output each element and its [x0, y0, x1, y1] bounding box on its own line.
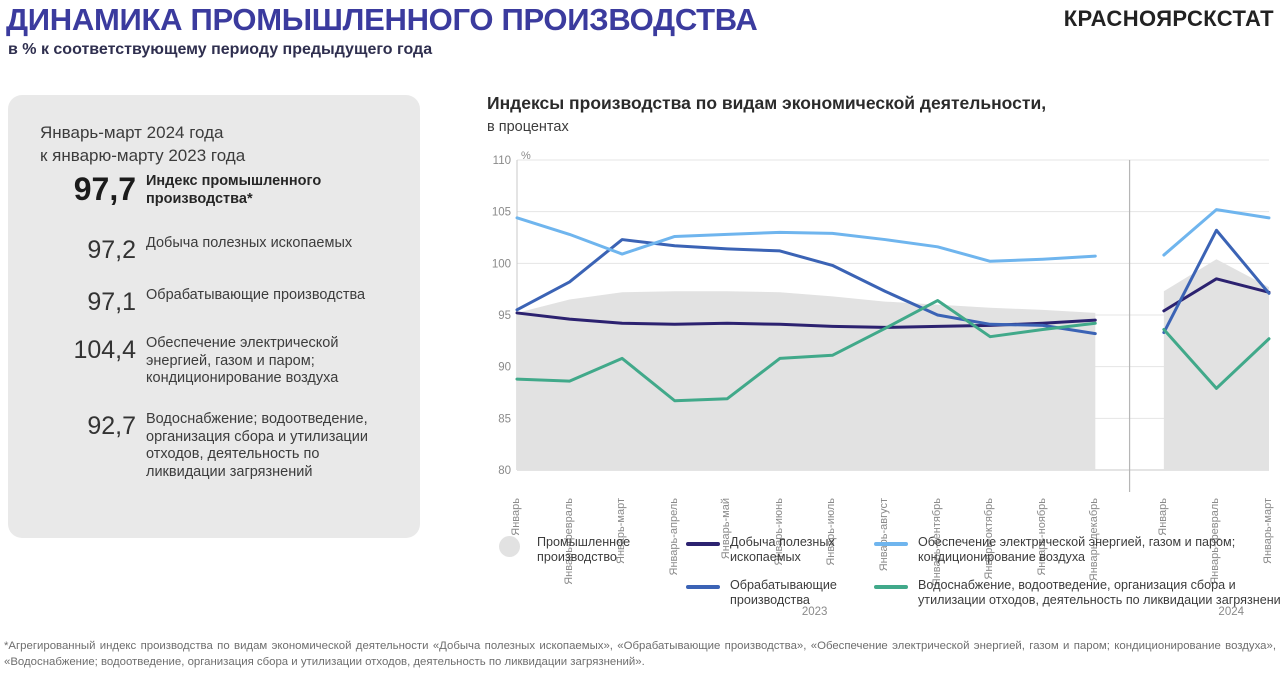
y-axis-tick-label: 105: [492, 207, 511, 219]
stat-value: 97,2: [8, 237, 136, 263]
line-chart-svg: 80859095100105110%: [487, 148, 1277, 498]
stat-label: Индекс промышленного производства*: [146, 173, 401, 208]
legend-dot-icon: [499, 536, 520, 557]
y-axis-tick-label: 90: [498, 362, 511, 374]
page-subtitle: в % к соответствующему периоду предыдуще…: [8, 41, 432, 59]
chart-legend: Промышленное производствоДобыча полезных…: [499, 533, 1277, 633]
panel-period-line: Январь-март 2024 года: [40, 122, 245, 145]
panel-period-label: Январь-март 2024 годак январю-марту 2023…: [40, 122, 245, 167]
page-header: ДИНАМИКА ПРОМЫШЛЕННОГО ПРОИЗВОДСТВА в % …: [0, 0, 1280, 70]
area-series-industrial-production: [517, 291, 1095, 470]
stat-label: Водоснабжение; водоотведение, организаци…: [146, 411, 401, 482]
stat-label: Обеспечение электрической энергией, газо…: [146, 335, 401, 388]
area-series-industrial-production-2024: [1164, 259, 1269, 470]
legend-label: Водоснабжение, водоотведение, организаци…: [918, 578, 1280, 609]
chart-block: Индексы производства по видам экономичес…: [487, 93, 1277, 633]
chart-subtitle: в процентах: [487, 119, 569, 135]
y-axis-tick-label: 110: [493, 155, 511, 167]
legend-line-icon: [686, 585, 720, 589]
stat-value: 97,1: [8, 289, 136, 315]
x-axis-tick-label: Январь: [1158, 498, 1169, 536]
y-axis-unit-label: %: [521, 150, 531, 162]
footnote: *Агрегированный индекс производства по в…: [4, 638, 1276, 670]
legend-line-icon: [874, 542, 908, 546]
y-axis-tick-label: 95: [498, 310, 511, 322]
legend-line-icon: [686, 542, 720, 546]
stat-value: 97,7: [8, 173, 136, 207]
panel-period-line: к январю-марту 2023 года: [40, 145, 245, 168]
y-axis-tick-label: 80: [498, 465, 511, 477]
chart-title: Индексы производства по видам экономичес…: [487, 93, 1046, 114]
stat-label: Добыча полезных ископаемых: [146, 235, 401, 253]
legend-label: Обеспечение электрической энергией, газо…: [918, 535, 1248, 566]
legend-label: Обрабатывающие производства: [730, 578, 880, 609]
legend-line-icon: [874, 585, 908, 589]
legend-label: Промышленное производство: [537, 535, 687, 566]
legend-label: Добыча полезных ископаемых: [730, 535, 880, 566]
x-axis-tick-label: Январь: [511, 498, 522, 536]
y-axis-tick-label: 85: [498, 413, 511, 425]
brand-logo: КРАСНОЯРСКСТАТ: [1064, 6, 1274, 32]
stat-value: 104,4: [8, 337, 136, 363]
page-title: ДИНАМИКА ПРОМЫШЛЕННОГО ПРОИЗВОДСТВА: [6, 2, 757, 38]
stat-label: Обрабатывающие производства: [146, 287, 401, 305]
summary-panel: Январь-март 2024 годак январю-марту 2023…: [8, 95, 420, 538]
y-axis-tick-label: 100: [492, 258, 511, 270]
stat-value: 92,7: [8, 413, 136, 439]
plot-area: 80859095100105110%: [487, 148, 1277, 498]
